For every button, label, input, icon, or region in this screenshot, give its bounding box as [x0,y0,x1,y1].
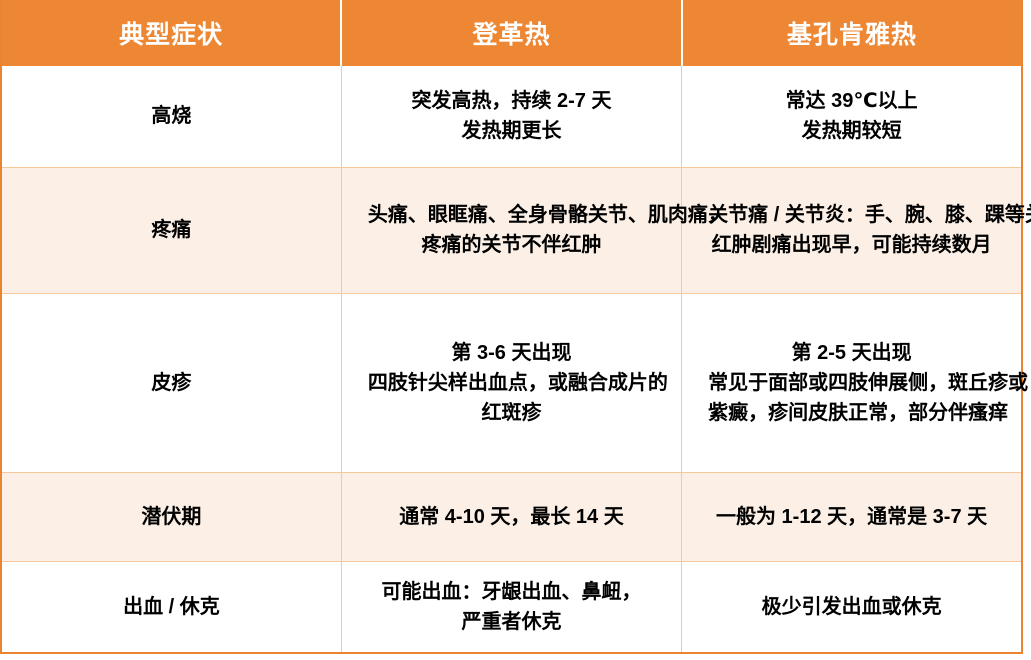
cell-dengue: 第 3-6 天出现 四肢针尖样出血点，或融合成片的 红斑疹 [341,293,681,472]
cell-line: 发热期较短 [708,116,995,146]
table-row: 出血 / 休克 可能出血：牙龈出血、鼻衄， 严重者休克 极少引发出血或休克 [1,561,1022,653]
row-symptom-label: 出血 / 休克 [1,561,341,653]
cell-dengue: 可能出血：牙龈出血、鼻衄， 严重者休克 [341,561,681,653]
cell-line: 紫癜，疹间皮肤正常，部分伴瘙痒 [708,398,995,428]
cell-line: 关节痛 / 关节炎：手、腕、膝、踝等关节 [708,200,995,230]
cell-line: 四肢针尖样出血点，或融合成片的 [368,368,655,398]
table-header: 典型症状 登革热 基孔肯雅热 [1,0,1022,66]
table-row: 疼痛 头痛、眼眶痛、全身骨骼关节、肌肉痛， 疼痛的关节不伴红肿 关节痛 / 关节… [1,167,1022,293]
cell-line: 红肿剧痛出现早，可能持续数月 [708,230,995,260]
table-row: 皮疹 第 3-6 天出现 四肢针尖样出血点，或融合成片的 红斑疹 第 2-5 天… [1,293,1022,472]
cell-line: 一般为 1-12 天，通常是 3-7 天 [708,502,995,532]
cell-line: 发热期更长 [368,116,655,146]
row-symptom-label: 疼痛 [1,167,341,293]
cell-line: 疼痛的关节不伴红肿 [368,230,655,260]
table-header-row: 典型症状 登革热 基孔肯雅热 [1,0,1022,66]
cell-chikungunya: 一般为 1-12 天，通常是 3-7 天 [682,472,1022,561]
column-header-chikungunya: 基孔肯雅热 [682,0,1022,66]
column-header-dengue: 登革热 [341,0,681,66]
row-symptom-label: 皮疹 [1,293,341,472]
cell-line: 极少引发出血或休克 [708,592,995,622]
table-body: 高烧 突发高热，持续 2-7 天 发热期更长 常达 39℃以上 发热期较短 疼痛… [1,66,1022,653]
symptom-comparison-table: 典型症状 登革热 基孔肯雅热 高烧 突发高热，持续 2-7 天 发热期更长 常达… [0,0,1023,654]
cell-line: 红斑疹 [368,398,655,428]
row-symptom-label: 潜伏期 [1,472,341,561]
cell-line: 常达 39℃以上 [708,86,995,116]
cell-line: 突发高热，持续 2-7 天 [368,86,655,116]
cell-chikungunya: 关节痛 / 关节炎：手、腕、膝、踝等关节 红肿剧痛出现早，可能持续数月 [682,167,1022,293]
cell-line: 通常 4-10 天，最长 14 天 [368,502,655,532]
cell-line: 可能出血：牙龈出血、鼻衄， [368,577,655,607]
table-row: 高烧 突发高热，持续 2-7 天 发热期更长 常达 39℃以上 发热期较短 [1,66,1022,167]
cell-dengue: 通常 4-10 天，最长 14 天 [341,472,681,561]
comparison-table-container: 典型症状 登革热 基孔肯雅热 高烧 突发高热，持续 2-7 天 发热期更长 常达… [0,0,1023,653]
cell-dengue: 突发高热，持续 2-7 天 发热期更长 [341,66,681,167]
table-row: 潜伏期 通常 4-10 天，最长 14 天 一般为 1-12 天，通常是 3-7… [1,472,1022,561]
cell-line: 常见于面部或四肢伸展侧，斑丘疹或 [708,368,995,398]
cell-line: 头痛、眼眶痛、全身骨骼关节、肌肉痛， [368,200,655,230]
cell-dengue: 头痛、眼眶痛、全身骨骼关节、肌肉痛， 疼痛的关节不伴红肿 [341,167,681,293]
cell-line: 第 3-6 天出现 [368,338,655,368]
cell-chikungunya: 第 2-5 天出现 常见于面部或四肢伸展侧，斑丘疹或 紫癜，疹间皮肤正常，部分伴… [682,293,1022,472]
cell-chikungunya: 极少引发出血或休克 [682,561,1022,653]
cell-line: 第 2-5 天出现 [708,338,995,368]
row-symptom-label: 高烧 [1,66,341,167]
cell-line: 严重者休克 [368,607,655,637]
column-header-symptom: 典型症状 [1,0,341,66]
cell-chikungunya: 常达 39℃以上 发热期较短 [682,66,1022,167]
